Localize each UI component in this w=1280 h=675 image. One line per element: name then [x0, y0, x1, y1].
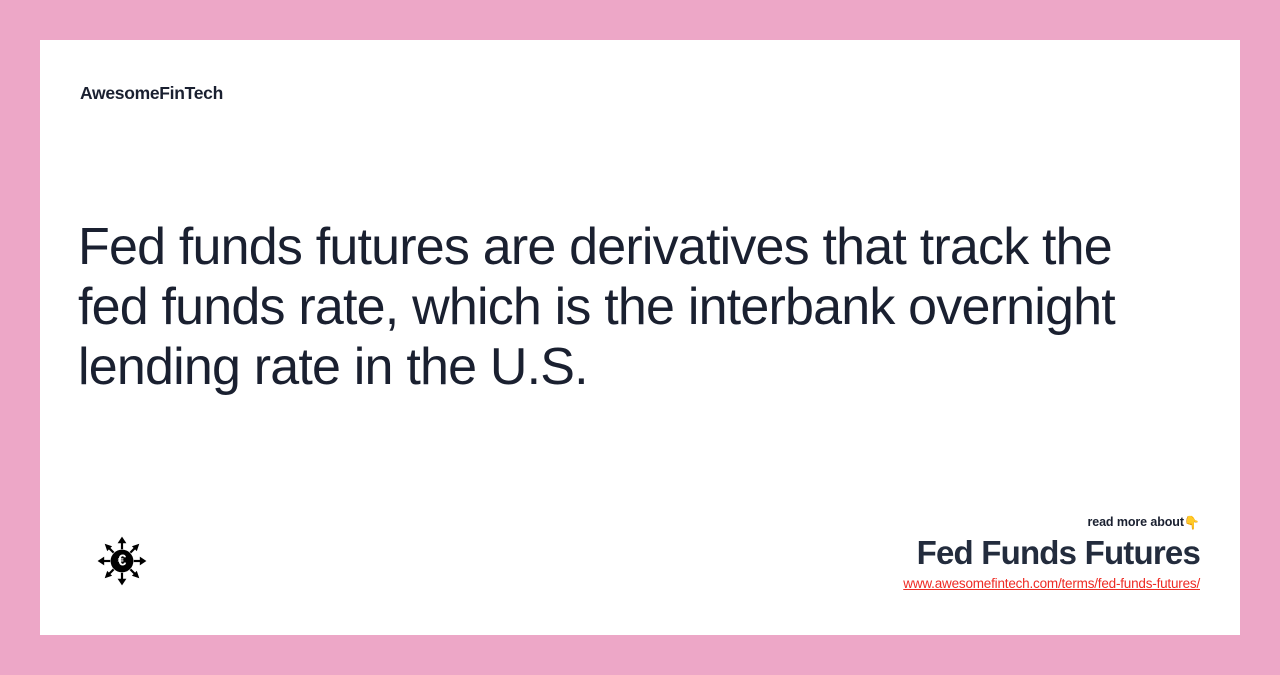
pointing-down-icon: 👇 [1184, 515, 1200, 530]
brand-name: AwesomeFinTech [80, 83, 223, 104]
headline-text: Fed funds futures are derivatives that t… [78, 217, 1188, 397]
term-url-link[interactable]: www.awesomefintech.com/terms/fed-funds-f… [903, 575, 1200, 593]
term-title: Fed Funds Futures [903, 533, 1200, 573]
svg-text:€: € [118, 553, 127, 570]
read-more-line: read more about👇 [903, 514, 1200, 531]
footer-term-block: read more about👇 Fed Funds Futures www.a… [903, 514, 1200, 593]
content-card: AwesomeFinTech Fed funds futures are der… [40, 40, 1240, 635]
euro-radiating-arrows-icon: € [96, 535, 148, 587]
read-more-label: read more about [1087, 515, 1183, 529]
